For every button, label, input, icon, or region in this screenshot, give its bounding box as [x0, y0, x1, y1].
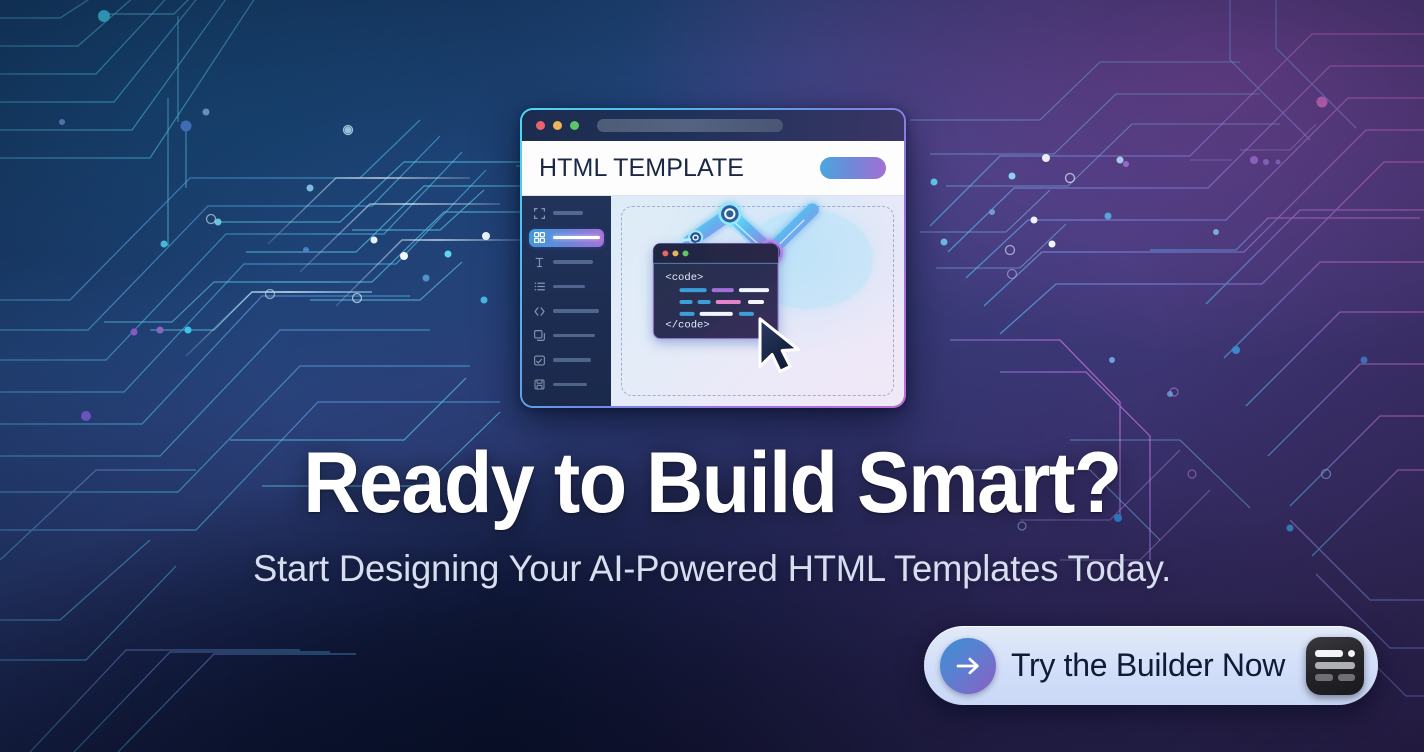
sidebar-label-bar — [553, 260, 593, 264]
badge-row-mid — [1315, 662, 1355, 669]
image-check-icon — [533, 354, 546, 367]
mouse-pointer-icon — [760, 319, 798, 372]
sidebar-item-text-tool[interactable] — [529, 253, 604, 271]
frame-select-icon — [533, 207, 546, 220]
badge-bar-gray — [1315, 662, 1355, 669]
page-title: Ready to Build Smart? — [57, 440, 1367, 526]
sidebar-label-bar — [553, 236, 600, 240]
code-brackets-icon — [533, 305, 546, 318]
sidebar-item-components[interactable] — [529, 229, 604, 247]
badge-bar-white — [1315, 650, 1343, 657]
header-action-button[interactable] — [820, 157, 886, 179]
traffic-lights — [536, 121, 579, 130]
copy-layers-icon — [533, 329, 546, 342]
layout-list-icon[interactable] — [1306, 637, 1364, 695]
editor-canvas[interactable]: <code> </code> — [611, 196, 904, 406]
hero-banner: HTML TEMPLATE — [0, 0, 1424, 752]
sidebar-label-bar — [553, 383, 587, 387]
app-header: HTML TEMPLATE — [522, 141, 904, 196]
code-close-tag: </code> — [665, 320, 709, 332]
sidebar-item-image-check[interactable] — [529, 351, 604, 369]
badge-dot — [1348, 650, 1355, 657]
minimize-yellow-icon[interactable] — [553, 121, 562, 130]
save-disk-icon — [533, 378, 546, 391]
html-template-window-mockup: HTML TEMPLATE — [520, 108, 906, 408]
try-the-builder-now-button[interactable]: Try the Builder Now — [924, 626, 1378, 705]
maximize-green-icon[interactable] — [570, 121, 579, 130]
window-titlebar — [522, 110, 904, 141]
list-icon — [533, 280, 546, 293]
text-tool-icon — [533, 256, 546, 269]
badge-row-top — [1315, 650, 1355, 657]
code-open-tag: <code> — [665, 272, 703, 284]
badge-row-bottom — [1315, 674, 1355, 681]
qr-components-icon — [533, 231, 546, 244]
badge-bar-small-right — [1338, 674, 1356, 681]
page-subtitle: Start Designing Your AI-Powered HTML Tem… — [11, 548, 1414, 590]
editor-sidebar — [522, 196, 611, 406]
sidebar-item-list[interactable] — [529, 278, 604, 296]
sidebar-label-bar — [553, 285, 585, 289]
hero-text-block: Ready to Build Smart? Start Designing Yo… — [0, 440, 1424, 590]
cta-label: Try the Builder Now — [996, 647, 1306, 684]
sidebar-item-frame-select[interactable] — [529, 204, 604, 222]
address-bar[interactable] — [597, 119, 783, 132]
sidebar-item-code[interactable] — [529, 302, 604, 320]
app-title: HTML TEMPLATE — [539, 154, 744, 183]
sidebar-item-layers[interactable] — [529, 327, 604, 345]
sidebar-item-save[interactable] — [529, 376, 604, 394]
sidebar-label-bar — [553, 334, 595, 338]
badge-bar-small-left — [1315, 674, 1333, 681]
sidebar-label-bar — [553, 211, 583, 215]
sidebar-label-bar — [553, 358, 591, 362]
arrow-right-icon — [940, 638, 996, 694]
app-body: <code> </code> — [522, 196, 904, 406]
close-red-icon[interactable] — [536, 121, 545, 130]
canvas-illustration: <code> </code> — [611, 196, 904, 406]
sidebar-label-bar — [553, 309, 599, 313]
